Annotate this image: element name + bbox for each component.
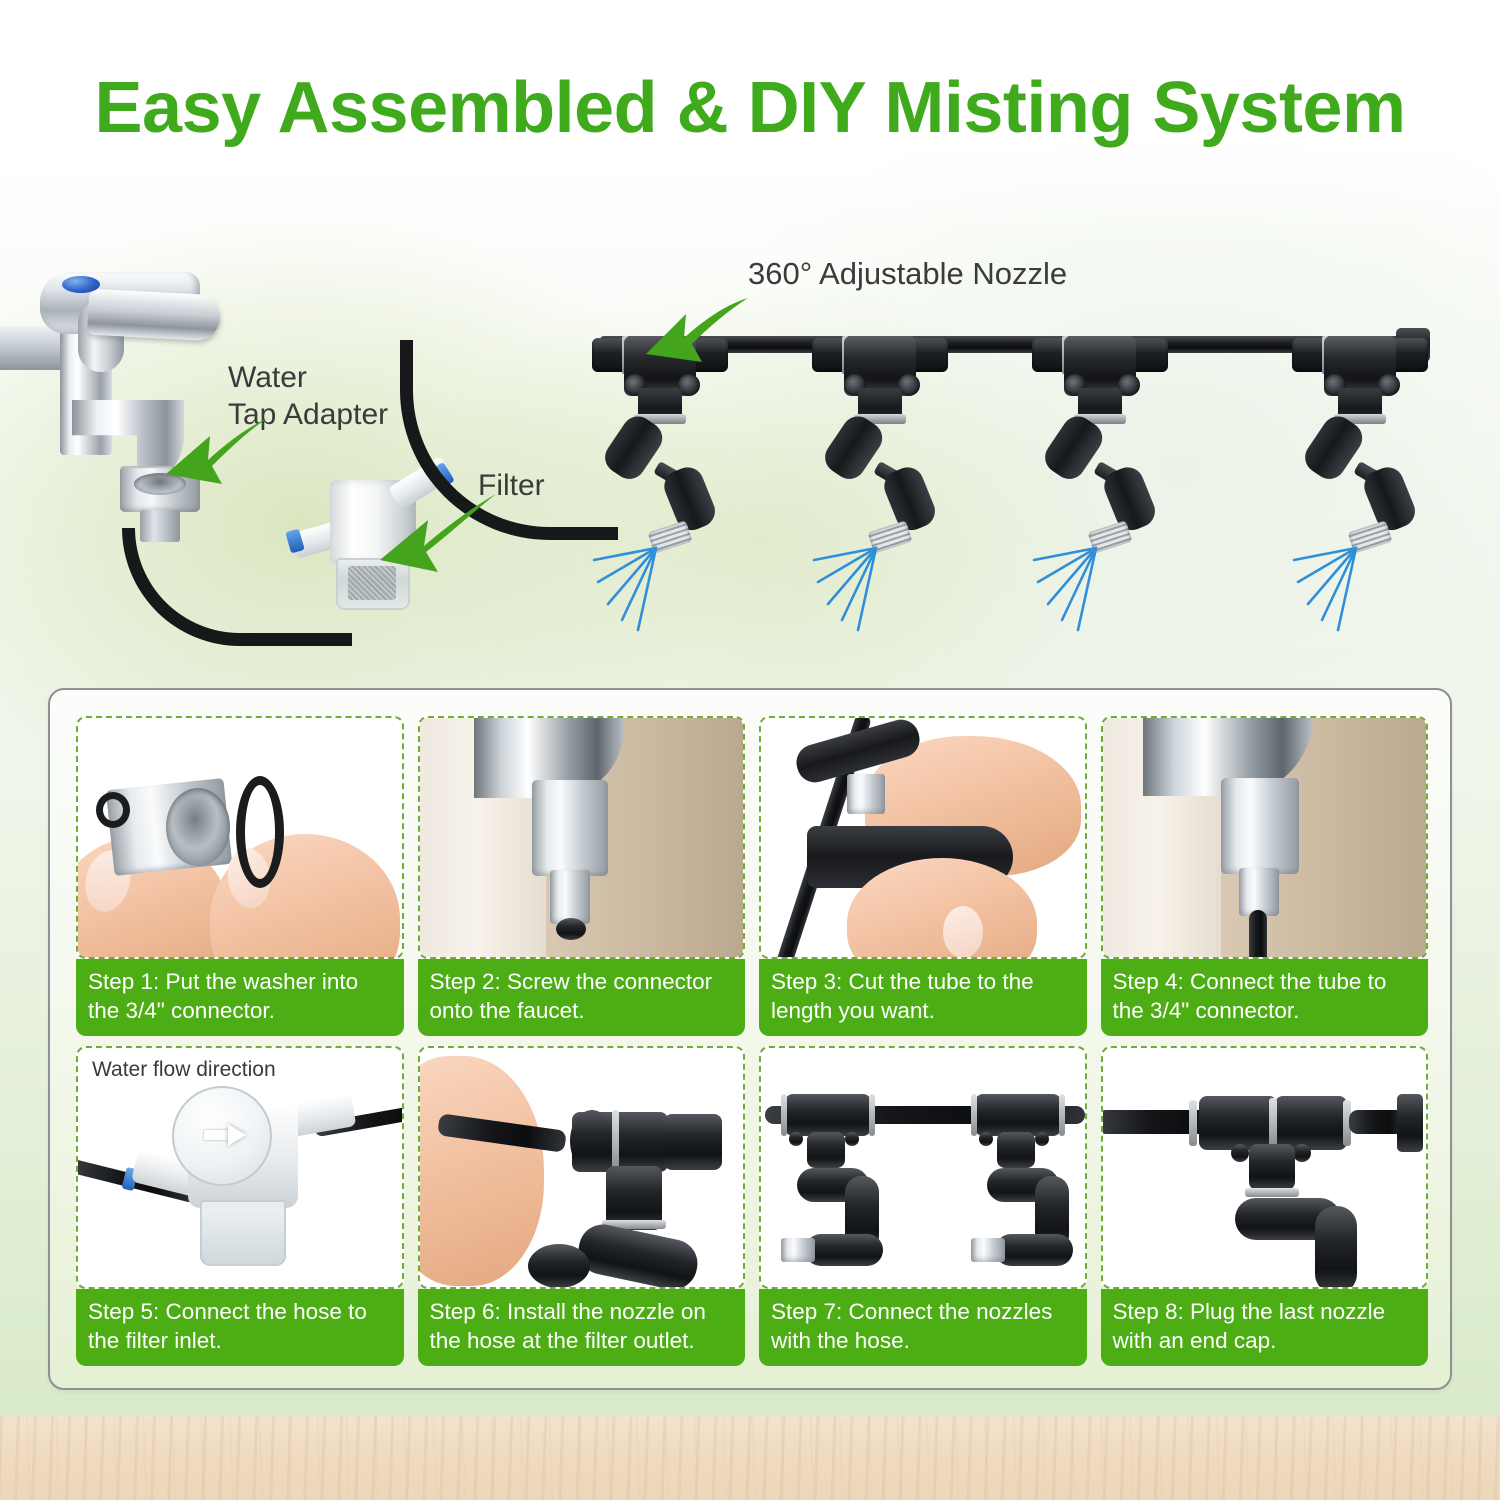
nozzle-arm-lower (1099, 463, 1159, 535)
tee-ear-b1 (979, 1132, 993, 1146)
connector-nut (532, 780, 608, 876)
tee-neck (1249, 1144, 1295, 1190)
step-caption-4: Step 4: Connect the tube to the 3/4" con… (1101, 959, 1429, 1036)
fingernail (943, 906, 983, 958)
arrow-to-nozzle-icon (636, 292, 756, 382)
step-card-6[interactable]: Step 6: Install the nozzle on the hose a… (418, 1046, 746, 1366)
ring-mid (1269, 1098, 1277, 1148)
arrow-to-filter-icon (372, 490, 502, 590)
step-photo-4 (1101, 716, 1429, 959)
nozzle-assembly-4 (1296, 330, 1456, 580)
step-card-2[interactable]: Step 2: Screw the connector onto the fau… (418, 716, 746, 1036)
end-cap (1397, 1094, 1423, 1152)
black-tube (1249, 910, 1267, 959)
step-photo-2 (418, 716, 746, 959)
step-caption-7: Step 7: Connect the nozzles with the hos… (759, 1289, 1087, 1366)
step-card-3[interactable]: Step 3: Cut the tube to the length you w… (759, 716, 1087, 1036)
elbow-end (528, 1244, 590, 1288)
step-caption-1: Step 1: Put the washer into the 3/4" con… (76, 959, 404, 1036)
tee-right-port (664, 1114, 722, 1170)
spray-lines (588, 534, 698, 634)
nozzle-arm-lower (1359, 463, 1419, 535)
spray-lines (808, 534, 918, 634)
step-card-7[interactable]: Step 7: Connect the nozzles with the hos… (759, 1046, 1087, 1366)
page-title: Easy Assembled & DIY Misting System (0, 72, 1500, 144)
step-card-8[interactable]: Step 8: Plug the last nozzle with an end… (1101, 1046, 1429, 1366)
elbow-b3 (995, 1234, 1073, 1266)
connector-stem (1239, 868, 1279, 916)
washer-small (96, 792, 130, 828)
step-photo-8 (1101, 1046, 1429, 1289)
water-flow-direction-label: Water flow direction (92, 1058, 276, 1082)
tee-ear-left (1231, 1144, 1249, 1162)
connector-stem (550, 870, 590, 924)
tee-ear-a2 (845, 1132, 859, 1146)
step-photo-6 (418, 1046, 746, 1289)
tee-ring-b-left (971, 1094, 977, 1136)
background-wood-surface (0, 1416, 1500, 1500)
step-caption-8: Step 8: Plug the last nozzle with an end… (1101, 1289, 1429, 1366)
tee-neck-b (997, 1132, 1035, 1168)
nozzle-elbow (574, 1220, 702, 1289)
tee-open-port (570, 1110, 614, 1172)
flow-arrow-head-icon (228, 1124, 246, 1146)
step-card-4[interactable]: Step 4: Connect the tube to the 3/4" con… (1101, 716, 1429, 1036)
tee-ring-b-right (1059, 1094, 1065, 1136)
infographic-stage: Easy Assembled & DIY Misting System (0, 0, 1500, 1500)
nozzle-arm-lower (659, 463, 719, 535)
faucet-blue-indicator (62, 276, 100, 293)
cutter-blade (847, 774, 885, 814)
nozzle-assembly-3 (1036, 330, 1196, 580)
spray-lines (1028, 534, 1138, 634)
tee-neck-a (807, 1132, 845, 1168)
tee-ring-a-right (869, 1094, 875, 1136)
tee-ear-right (1293, 1144, 1311, 1162)
tee-collar (1245, 1188, 1299, 1197)
tee-silver-ring (612, 1110, 619, 1172)
steps-panel: Step 1: Put the washer into the 3/4" con… (48, 688, 1452, 1390)
tee-ear-b2 (1035, 1132, 1049, 1146)
mist-nozzle-b (971, 1238, 1005, 1262)
elbow-a3 (805, 1234, 883, 1266)
faucet-lever (87, 289, 221, 342)
filter-bowl (200, 1200, 286, 1266)
step-photo-5: Water flow direction (76, 1046, 404, 1289)
spray-lines (1288, 534, 1398, 634)
tee-right-port (1275, 1096, 1347, 1150)
step-photo-7 (759, 1046, 1087, 1289)
nozzle-assembly-2 (816, 330, 976, 580)
label-adjustable-nozzle: 360° Adjustable Nozzle (748, 255, 1067, 293)
step-card-5[interactable]: Water flow direction (76, 1046, 404, 1366)
tee-ear-a1 (789, 1132, 803, 1146)
nozzle-arm-lower (879, 463, 939, 535)
connector-bore (166, 788, 230, 866)
steps-grid: Step 1: Put the washer into the 3/4" con… (50, 690, 1454, 1392)
elbow-vertical (1315, 1206, 1357, 1289)
step-photo-1 (76, 716, 404, 959)
step-caption-3: Step 3: Cut the tube to the length you w… (759, 959, 1087, 1036)
tee-body-b (975, 1094, 1061, 1136)
step-photo-3 (759, 716, 1087, 959)
step-card-1[interactable]: Step 1: Put the washer into the 3/4" con… (76, 716, 404, 1036)
push-fit-collar (556, 918, 586, 940)
mist-nozzle-a (781, 1238, 815, 1262)
tee-ring-a-left (781, 1094, 787, 1136)
flow-arrow-tail (204, 1130, 230, 1140)
tee-body-a (785, 1094, 871, 1136)
step-caption-2: Step 2: Screw the connector onto the fau… (418, 959, 746, 1036)
connector-nut (1221, 778, 1299, 874)
arrow-to-tap-adapter-icon (158, 412, 278, 502)
step-caption-5: Step 5: Connect the hose to the filter i… (76, 1289, 404, 1366)
rubber-washer (236, 776, 284, 888)
tee-left-port (1199, 1096, 1277, 1150)
step-caption-6: Step 6: Install the nozzle on the hose a… (418, 1289, 746, 1366)
ring-left (1189, 1100, 1197, 1146)
hand-thumb (418, 1056, 544, 1286)
